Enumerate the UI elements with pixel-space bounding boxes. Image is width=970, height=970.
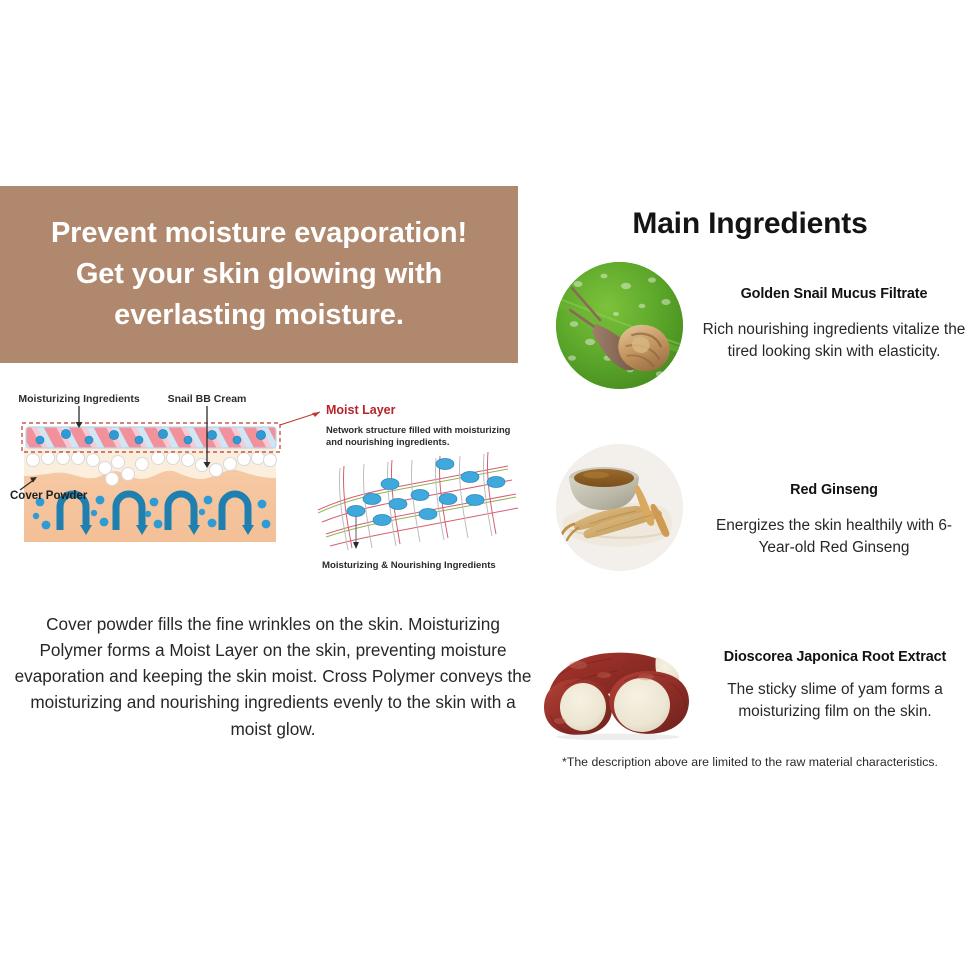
label-moist-layer: Moist Layer <box>326 403 396 417</box>
ingredient-name: Red Ginseng <box>698 482 970 498</box>
yam-root-photo <box>538 645 698 745</box>
ingredient-name: Dioscorea Japonica Root Extract <box>690 649 970 665</box>
label-cover-powder: Cover Powder <box>10 490 88 502</box>
ingredient-photo <box>538 645 698 745</box>
product-detail-page: Prevent moisture evaporation! Get your s… <box>0 0 970 970</box>
main-ingredients-title: Main Ingredients <box>530 207 970 241</box>
ingredient-photo <box>556 262 683 389</box>
ingredient-item: Dioscorea Japonica Root Extract The stic… <box>530 640 970 740</box>
ingredient-item: Red Ginseng Energizes the skin healthily… <box>530 444 970 584</box>
skin-layer-diagram: Moisturizing Ingredients Snail BB Cream … <box>0 392 520 592</box>
ingredient-item: Golden Snail Mucus Filtrate Rich nourish… <box>530 262 970 402</box>
label-snail-bb-cream: Snail BB Cream <box>168 393 247 405</box>
label-moisturizing-ingredients: Moisturizing Ingredients <box>18 393 139 405</box>
label-moist-layer-desc-1: Network structure filled with moisturizi… <box>326 424 511 435</box>
red-ginseng-tea-photo <box>556 444 683 571</box>
ingredient-photo <box>556 444 683 571</box>
ingredient-copy: Golden Snail Mucus Filtrate Rich nourish… <box>698 286 970 363</box>
diagram-description-paragraph: Cover powder fills the fine wrinkles on … <box>14 611 532 742</box>
label-network-caption: Moisturizing & Nourishing Ingredients <box>322 560 496 571</box>
ingredient-description: The sticky slime of yam forms a moisturi… <box>690 679 970 723</box>
ingredient-name: Golden Snail Mucus Filtrate <box>698 286 970 302</box>
ingredient-copy: Red Ginseng Energizes the skin healthily… <box>698 482 970 559</box>
snail-on-leaf-photo <box>556 262 683 389</box>
headline-banner: Prevent moisture evaporation! Get your s… <box>0 186 518 363</box>
ingredient-copy: Dioscorea Japonica Root Extract The stic… <box>690 649 970 723</box>
ingredients-footnote: *The description above are limited to th… <box>530 755 970 769</box>
label-moist-layer-desc-2: and nourishing ingredients. <box>326 436 449 447</box>
banner-headline: Prevent moisture evaporation! Get your s… <box>29 213 489 337</box>
ingredient-description: Energizes the skin healthily with 6-Year… <box>698 515 970 559</box>
ingredient-description: Rich nourishing ingredients vitalize the… <box>698 319 970 363</box>
